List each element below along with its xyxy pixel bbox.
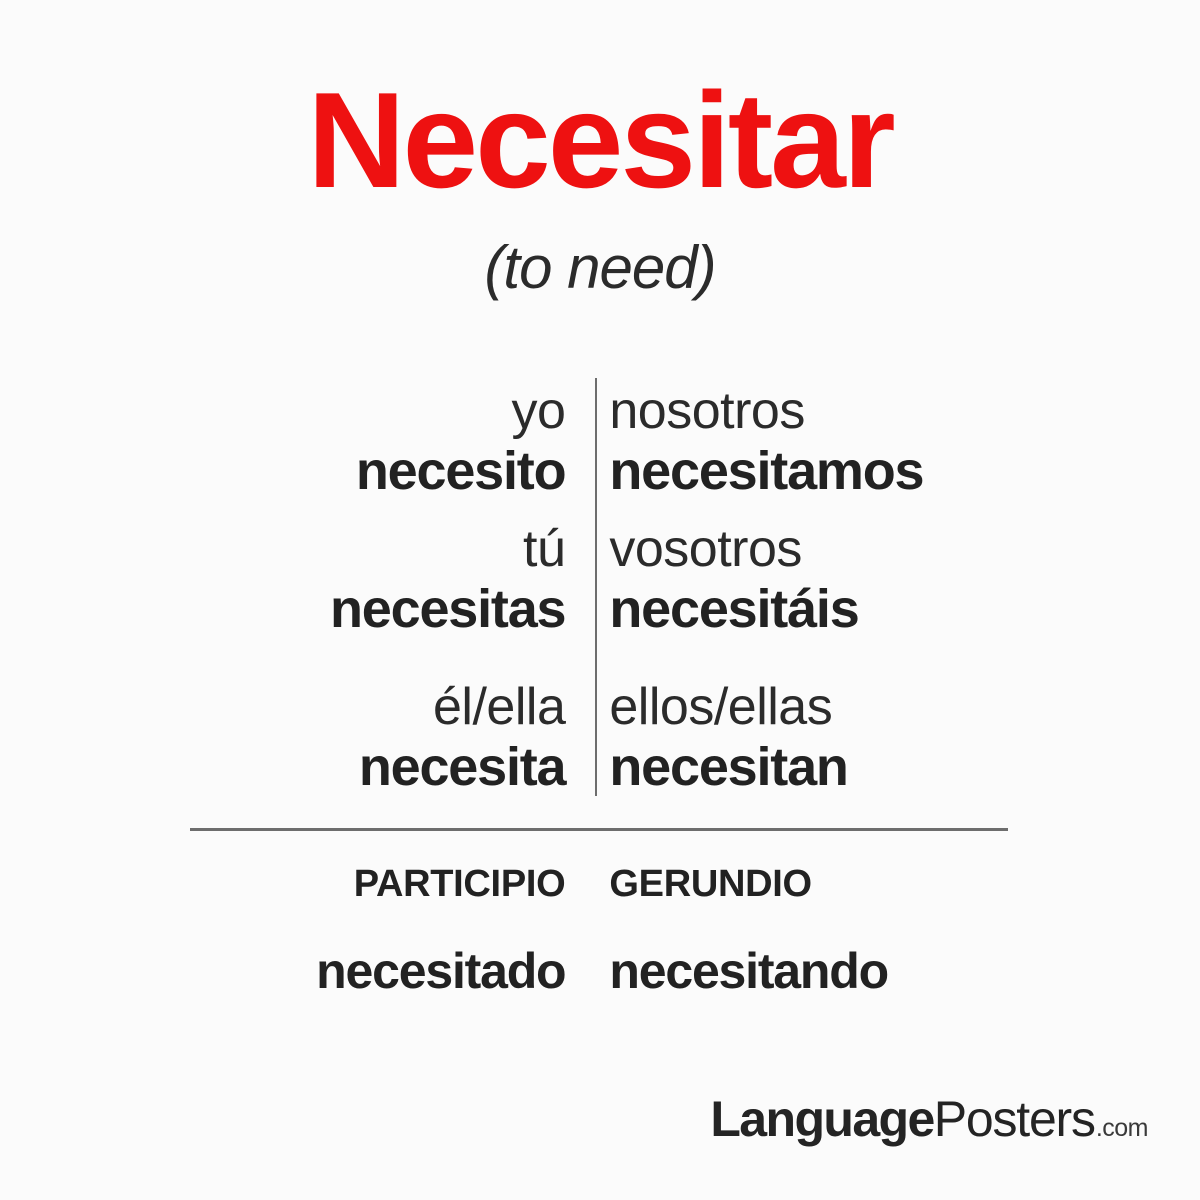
conjugated-form: necesitan [609,736,847,798]
logo-secondary-text: Posters [934,1090,1095,1148]
conjugation-cell-el-ella: él/ella necesita [190,678,583,806]
conjugated-form: necesita [359,736,566,798]
brand-logo[interactable]: Language Posters .com [710,1090,1148,1148]
conjugation-cell-yo: yo necesito [190,382,583,510]
table-row: él/ella necesita ellos/ellas necesitan [190,678,1008,806]
conjugation-table: yo necesito nosotros necesitamos tú nece… [190,378,1008,796]
participio-value: necesitado [316,942,565,1000]
pronoun-label: yo [511,382,565,440]
section-divider [190,828,1008,831]
pronoun-label: tú [523,520,565,578]
table-row: yo necesito nosotros necesitamos [190,382,1008,510]
gerundio-value: necesitando [609,942,888,1000]
conjugated-form: necesitas [330,578,565,640]
logo-primary-text: Language [710,1090,933,1148]
pronoun-label: vosotros [609,520,802,578]
gerundio-label: GERUNDIO [609,862,811,906]
participio-cell: PARTICIPIO necesitado [190,862,583,1000]
page-title: Necesitar [0,72,1200,208]
gerundio-cell: GERUNDIO necesitando [583,862,1008,1000]
pronoun-label: nosotros [609,382,804,440]
table-row: tú necesitas vosotros necesitáis [190,520,1008,648]
conjugation-cell-nosotros: nosotros necesitamos [583,382,1008,510]
pronoun-label: ellos/ellas [609,678,832,736]
conjugation-cell-vosotros: vosotros necesitáis [583,520,1008,648]
conjugation-cell-ellos-ellas: ellos/ellas necesitan [583,678,1008,806]
conjugated-form: necesitamos [609,440,923,502]
nonfinite-forms-section: PARTICIPIO necesitado GERUNDIO necesitan… [190,862,1008,1000]
verb-conjugation-poster: Necesitar (to need) yo necesito nosotros… [0,0,1200,1200]
conjugated-form: necesito [356,440,566,502]
conjugated-form: necesitáis [609,578,858,640]
participio-label: PARTICIPIO [354,862,566,906]
pronoun-label: él/ella [433,678,565,736]
conjugation-cell-tu: tú necesitas [190,520,583,648]
verb-translation: (to need) [0,238,1200,298]
logo-tld-text: .com [1096,1114,1148,1143]
